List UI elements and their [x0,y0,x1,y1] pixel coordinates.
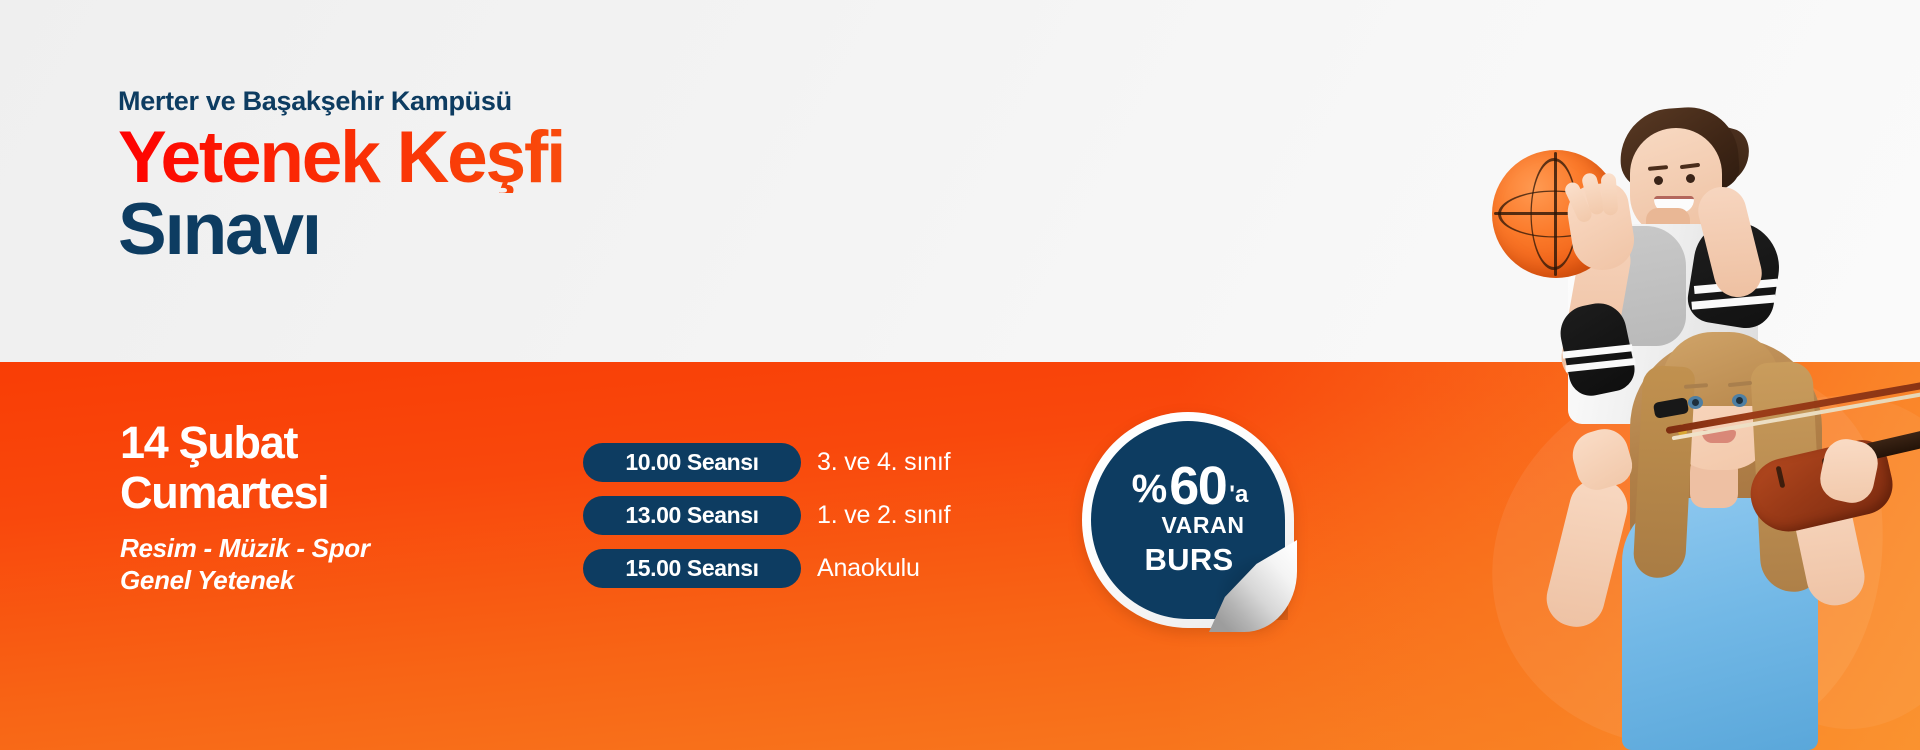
event-date-line-1: 14 Şubat [120,418,550,468]
subjects-line-1: Resim - Müzik - Spor [120,533,550,565]
session-time-pill: 13.00 Seansı [583,496,801,535]
subjects-line-2: Genel Yetenek [120,565,550,597]
scholarship-varan-label: VARAN [1091,514,1285,537]
promo-banner: Merter ve Başakşehir Kampüsü Yetenek Keş… [0,0,1920,750]
percent-value: 60 [1169,461,1226,512]
page-title-primary: Yetenek Keşfi [118,123,1018,193]
session-row: 15.00 Seansı Anaokulu [583,549,950,588]
scholarship-badge-text: % 60 'a VARAN BURS [1091,461,1285,575]
session-time-pill: 10.00 Seansı [583,443,801,482]
percent-sign: % [1132,470,1168,508]
session-schedule: 10.00 Seansı 3. ve 4. sınıf 13.00 Seansı… [583,443,950,588]
session-grade-label: 1. ve 2. sınıf [817,501,950,530]
campus-kicker: Merter ve Başakşehir Kampüsü [118,86,1018,117]
percent-suffix: 'a [1229,483,1248,507]
scholarship-percent-row: % 60 'a [1091,461,1285,512]
session-grade-label: 3. ve 4. sınıf [817,448,950,477]
session-row: 13.00 Seansı 1. ve 2. sınıf [583,496,950,535]
event-date-line-2: Cumartesi [120,468,550,518]
subjects-block: Resim - Müzik - Spor Genel Yetenek [120,533,550,596]
session-time-pill: 15.00 Seansı [583,549,801,588]
session-row: 10.00 Seansı 3. ve 4. sınıf [583,443,950,482]
session-grade-label: Anaokulu [817,554,920,583]
scholarship-badge: % 60 'a VARAN BURS [1082,412,1294,628]
page-title-secondary: Sınavı [118,195,1018,265]
date-block: 14 Şubat Cumartesi Resim - Müzik - Spor … [120,418,550,596]
headline-block: Merter ve Başakşehir Kampüsü Yetenek Keş… [118,86,1018,265]
